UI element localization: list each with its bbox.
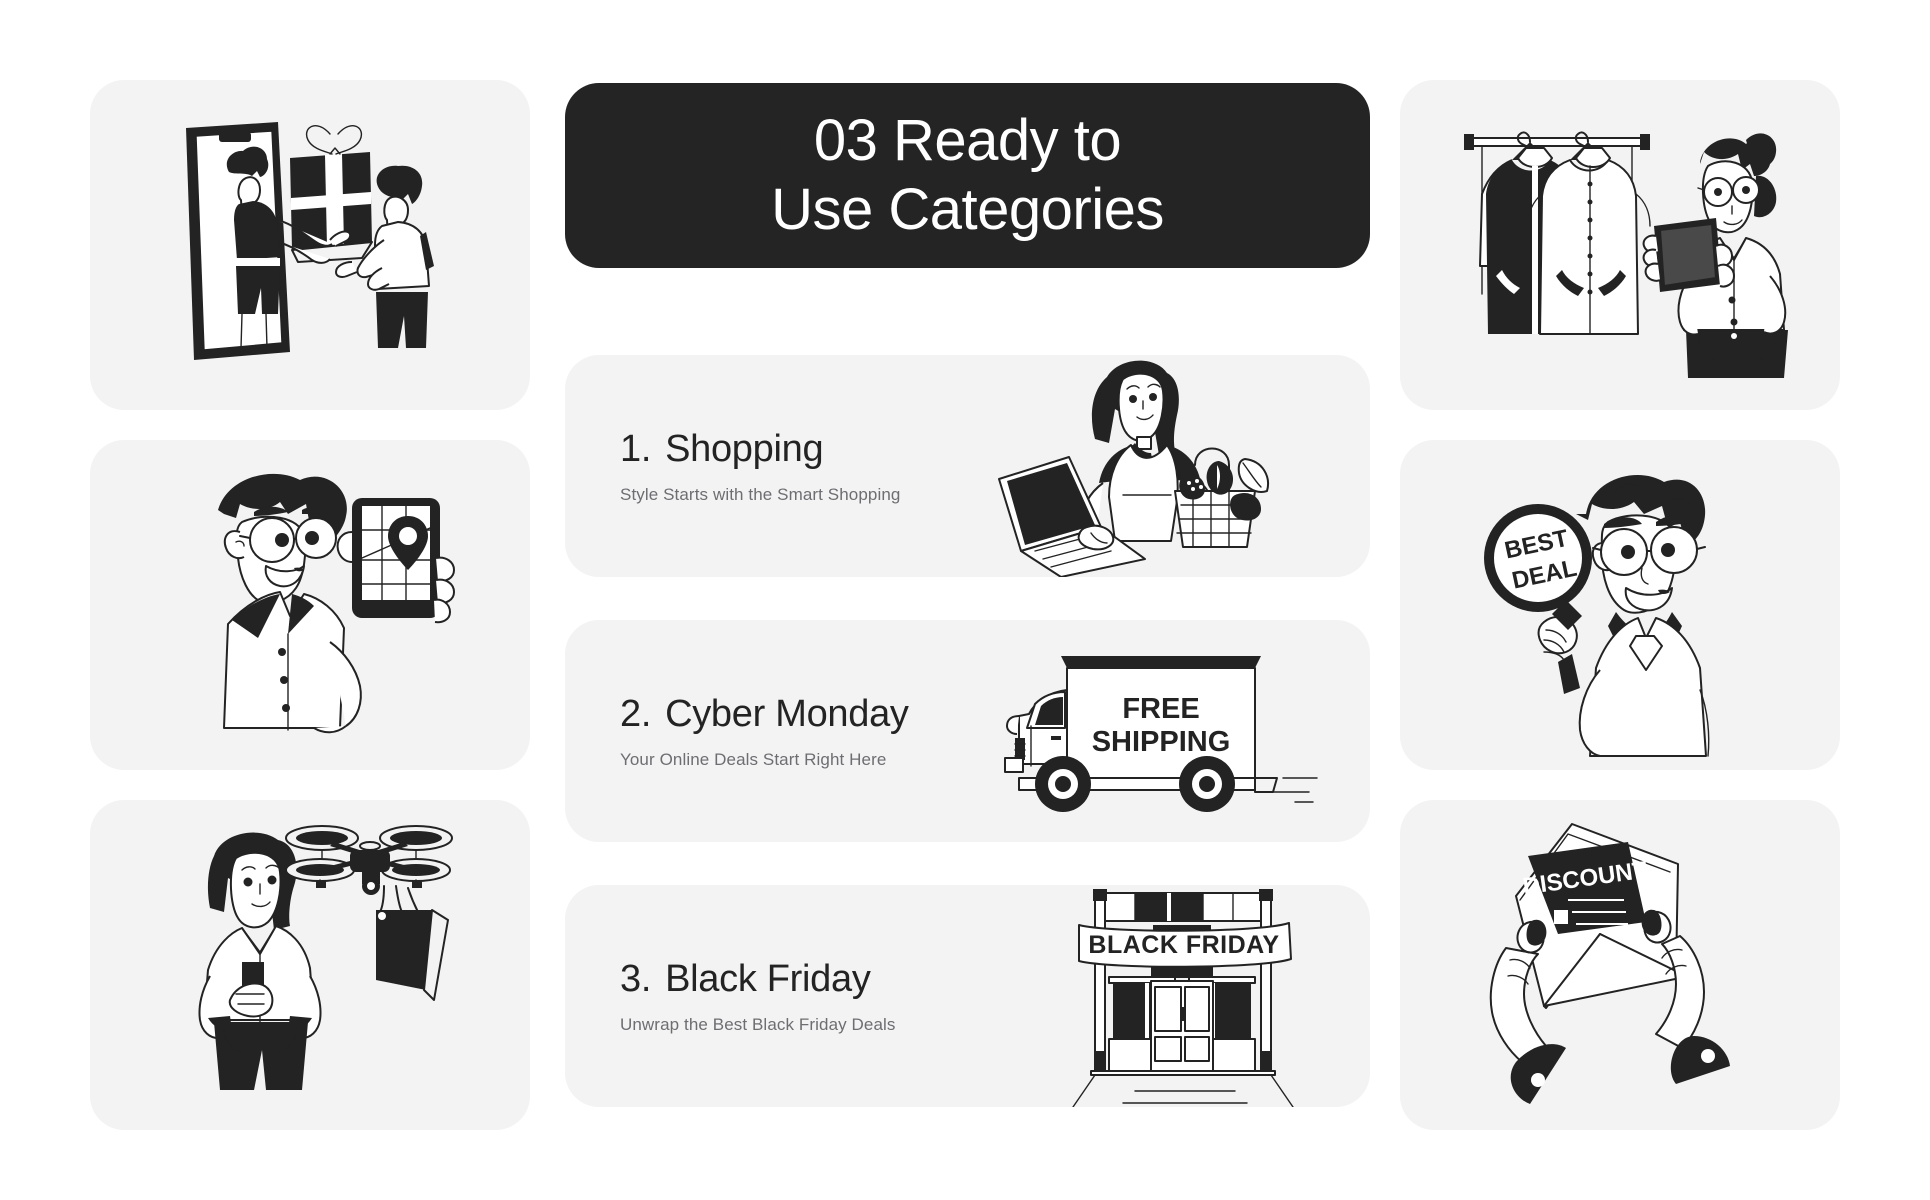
page-title-line-1: 03 Ready to (771, 107, 1164, 175)
illustration-card-best-deal: BEST DEAL (1400, 440, 1840, 770)
truck-text-line-1: FREE (1122, 693, 1199, 725)
illustration-card-clothing-rack (1400, 80, 1840, 410)
hands-envelope-discount-card-illustration: DISCOUNT (1400, 800, 1840, 1130)
clothing-rack-woman-tablet-illustration (1400, 80, 1840, 410)
category-number: 2. (620, 693, 651, 735)
category-title: Black Friday (665, 958, 870, 1000)
category-heading: 2.Cyber Monday (620, 693, 995, 736)
truck-text-line-2: SHIPPING (1092, 726, 1231, 758)
man-holding-phone-map-pin-illustration (90, 440, 530, 770)
category-text-block: 2.Cyber Monday Your Online Deals Start R… (565, 693, 995, 770)
illustration-card-phone-map (90, 440, 530, 770)
category-subtitle: Style Starts with the Smart Shopping (620, 485, 995, 505)
page-title: 03 Ready to Use Categories (771, 107, 1164, 244)
storefront-illustration: BLACK FRIDAY (995, 885, 1370, 1107)
drone-delivery-shopping-bag-illustration (90, 800, 530, 1130)
category-title: Cyber Monday (665, 693, 909, 735)
woman-laptop-shopping-basket-illustration (995, 355, 1370, 577)
category-heading: 1.Shopping (620, 428, 995, 471)
category-subtitle: Your Online Deals Start Right Here (620, 750, 995, 770)
category-subtitle: Unwrap the Best Black Friday Deals (620, 1015, 995, 1035)
slide-title-box: 03 Ready to Use Categories (565, 83, 1370, 268)
category-heading: 3.Black Friday (620, 958, 995, 1001)
category-text-block: 1.Shopping Style Starts with the Smart S… (565, 428, 995, 505)
storefront-banner-text: BLACK FRIDAY (1088, 931, 1279, 959)
category-card-black-friday[interactable]: 3.Black Friday Unwrap the Best Black Fri… (565, 885, 1370, 1107)
category-title: Shopping (665, 428, 823, 470)
category-text-block: 3.Black Friday Unwrap the Best Black Fri… (565, 958, 995, 1035)
category-card-cyber-monday[interactable]: 2.Cyber Monday Your Online Deals Start R… (565, 620, 1370, 842)
illustration-card-gift-exchange (90, 80, 530, 410)
gift-exchange-through-phone-illustration (90, 80, 530, 410)
slide-canvas: 03 Ready to Use Categories 1.Shopping St… (0, 0, 1930, 1200)
page-title-line-2: Use Categories (771, 176, 1164, 244)
illustration-card-drone-delivery (90, 800, 530, 1130)
man-magnifying-glass-best-deal-illustration: BEST DEAL (1400, 440, 1840, 770)
illustration-card-discount-envelope: DISCOUNT (1400, 800, 1840, 1130)
category-number: 3. (620, 958, 651, 1000)
category-number: 1. (620, 428, 651, 470)
category-card-shopping[interactable]: 1.Shopping Style Starts with the Smart S… (565, 355, 1370, 577)
delivery-truck-illustration: FREE SHIPPING (995, 620, 1370, 842)
